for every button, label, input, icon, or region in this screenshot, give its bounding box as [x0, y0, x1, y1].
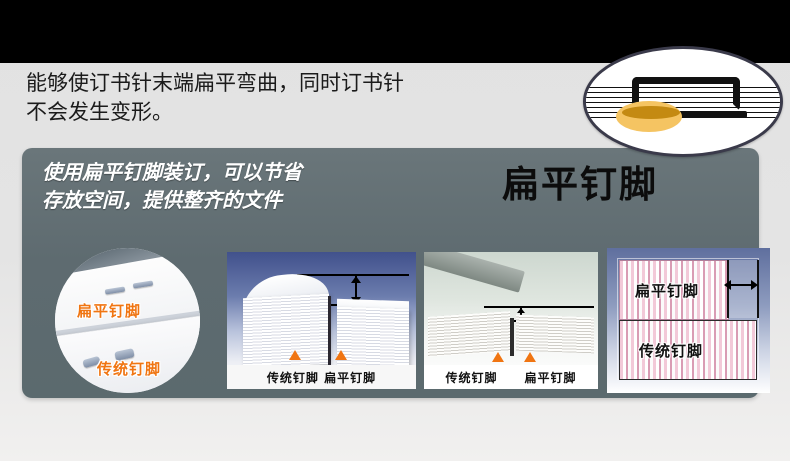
paper-stack-traditional	[428, 311, 510, 357]
stack-divider	[510, 318, 514, 356]
panel-heading: 扁平钉脚	[502, 162, 658, 206]
photo-tiles-row: 扁平钉脚 传统钉脚 传统钉脚 扁平钉脚	[22, 248, 759, 393]
tile4-label-traditional: 传统钉脚	[639, 340, 703, 361]
panel-body-text: 使用扁平钉脚装订，可以节省 存放空间，提供整齐的文件	[42, 158, 302, 214]
tile1-label-traditional: 传统钉脚	[97, 358, 161, 379]
tile-corner-staples-photo: 扁平钉脚 传统钉脚	[55, 248, 200, 393]
orange-triangle-icon	[289, 350, 301, 360]
staple-highlight-core	[622, 106, 680, 119]
measure-line-top	[484, 306, 594, 308]
page-subtitle: 能够使订书针末端扁平弯曲，同时订书针 不会发生变形。	[26, 69, 404, 127]
orange-triangle-icon	[335, 350, 347, 360]
tile3-caption: 传统钉脚 扁平钉脚	[424, 369, 598, 386]
tile1-label-flat: 扁平钉脚	[77, 300, 141, 321]
tile4-label-flat: 扁平钉脚	[635, 280, 699, 301]
tile-edge-thickness-comparison: 传统钉脚 扁平钉脚	[424, 252, 598, 389]
tile-filing-box-comparison: 扁平钉脚 传统钉脚	[607, 248, 770, 393]
staple-magnifier-oval	[583, 46, 783, 157]
orange-triangle-icon	[524, 352, 536, 362]
page-root: 平脚订书机 能够使订书针末端扁平弯曲，同时订书针 不会发生变形。 使用扁平钉脚装…	[0, 0, 790, 461]
orange-triangle-icon	[492, 352, 504, 362]
paper-stack-flat	[516, 315, 594, 354]
stack-divider	[328, 296, 331, 368]
tile2-caption: 传统钉脚 扁平钉脚	[227, 369, 416, 386]
paper-stack-flat	[337, 307, 409, 368]
feature-panel: 使用扁平钉脚装订，可以节省 存放空间，提供整齐的文件 扁平钉脚 扁平钉脚 传统钉…	[22, 148, 759, 398]
tile-paper-stack-comparison: 传统钉脚 扁平钉脚	[227, 252, 416, 389]
tile3-caption-right: 扁平钉脚	[524, 369, 576, 386]
stapler-arm	[424, 252, 525, 293]
paper-stack-traditional	[243, 294, 329, 369]
tile3-caption-left: 传统钉脚	[445, 369, 497, 386]
left-right-arrow-icon	[731, 284, 751, 286]
